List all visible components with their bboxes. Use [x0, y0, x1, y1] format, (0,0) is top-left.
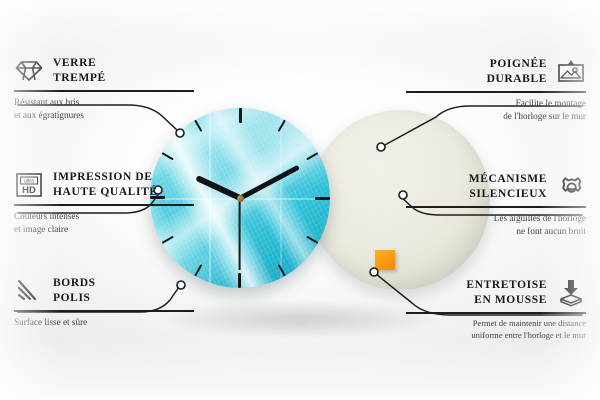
callout-title-line2: DURABLE: [487, 73, 547, 85]
callout-title-line1: VERRE: [53, 57, 96, 69]
callout-title-line1: MÉCANISME: [469, 173, 547, 185]
hour-tick: [240, 197, 330, 199]
callout-poignee-durable[interactable]: POIGNÉEDURABLE Facilite le montagede l'h…: [406, 57, 586, 122]
callout-rule: [406, 91, 586, 93]
callout-sub-line1: Couleurs intenses: [14, 211, 79, 221]
callout-rule: [14, 204, 194, 206]
callout-title-line2: POLIS: [53, 292, 91, 304]
polished-edges-icon: [14, 277, 44, 305]
callout-sub-line1: Les aiguilles de l'horloge: [494, 213, 586, 223]
callout-mecanisme-silencieux[interactable]: MÉCANISMESILENCIEUX Les aiguilles de l'h…: [406, 172, 586, 237]
foam-spacer: [375, 250, 395, 270]
callout-sub-line1: Facilite le montage: [516, 98, 586, 108]
callout-title-line2: TREMPÉ: [53, 72, 106, 84]
diamond-icon: [14, 57, 44, 85]
callout-sub-line1: Permet de maintenir une distance: [473, 318, 586, 328]
callout-rule: [14, 90, 194, 92]
callout-verre-trempe[interactable]: VERRETREMPÉ Résistant aux briset aux égr…: [14, 56, 194, 121]
callout-sub-line2: uniforme entre l'horloge et le mur: [471, 330, 586, 340]
callout-sub-line2: de l'horloge sur le mur: [503, 111, 586, 121]
callout-bords-polis[interactable]: BORDSPOLIS Surface lisse et sûre: [14, 276, 194, 329]
foam-spacer-arrow-icon: [556, 279, 586, 307]
callout-title-line2: SILENCIEUX: [469, 188, 547, 200]
callout-rule: [14, 310, 194, 312]
callout-title-line1: POIGNÉE: [490, 58, 547, 70]
callout-title-line2: HAUTE QUALITÉ: [53, 186, 158, 198]
hour-tick: [239, 108, 241, 198]
callout-sub-line2: ne font aucun bruit: [516, 226, 586, 236]
ultra-hd-bottom-text: HD: [22, 185, 36, 196]
callout-sub-line1: Surface lisse et sûre: [14, 317, 87, 327]
infographic-canvas: VERRETREMPÉ Résistant aux briset aux égr…: [0, 0, 600, 400]
callout-rule: [406, 312, 586, 314]
callout-title-line2: EN MOUSSE: [474, 294, 547, 306]
callout-rule: [406, 206, 586, 208]
callout-title-line1: BORDS: [53, 277, 96, 289]
callout-sub-line2: et aux égratignures: [14, 110, 84, 120]
ultra-hd-top-text: ultra: [24, 178, 34, 184]
hand-cap: [237, 195, 244, 202]
callout-entretoise-en-mousse[interactable]: ENTRETOISEEN MOUSSE Permet de maintenir …: [406, 278, 586, 341]
gear-icon: [556, 173, 586, 201]
picture-hanger-icon: [556, 58, 586, 86]
callout-title-line1: IMPRESSION DE: [53, 171, 153, 183]
callout-title-line1: ENTRETOISE: [466, 279, 547, 291]
callout-sub-line2: et image claire: [14, 224, 68, 234]
second-hand: [239, 198, 241, 270]
callout-impression-haute-qualite[interactable]: ultra HD IMPRESSION DEHAUTE QUALITÉ Coul…: [14, 170, 194, 235]
ultra-hd-badge-icon: ultra HD: [14, 171, 44, 199]
callout-sub-line1: Résistant aux bris: [14, 97, 79, 107]
